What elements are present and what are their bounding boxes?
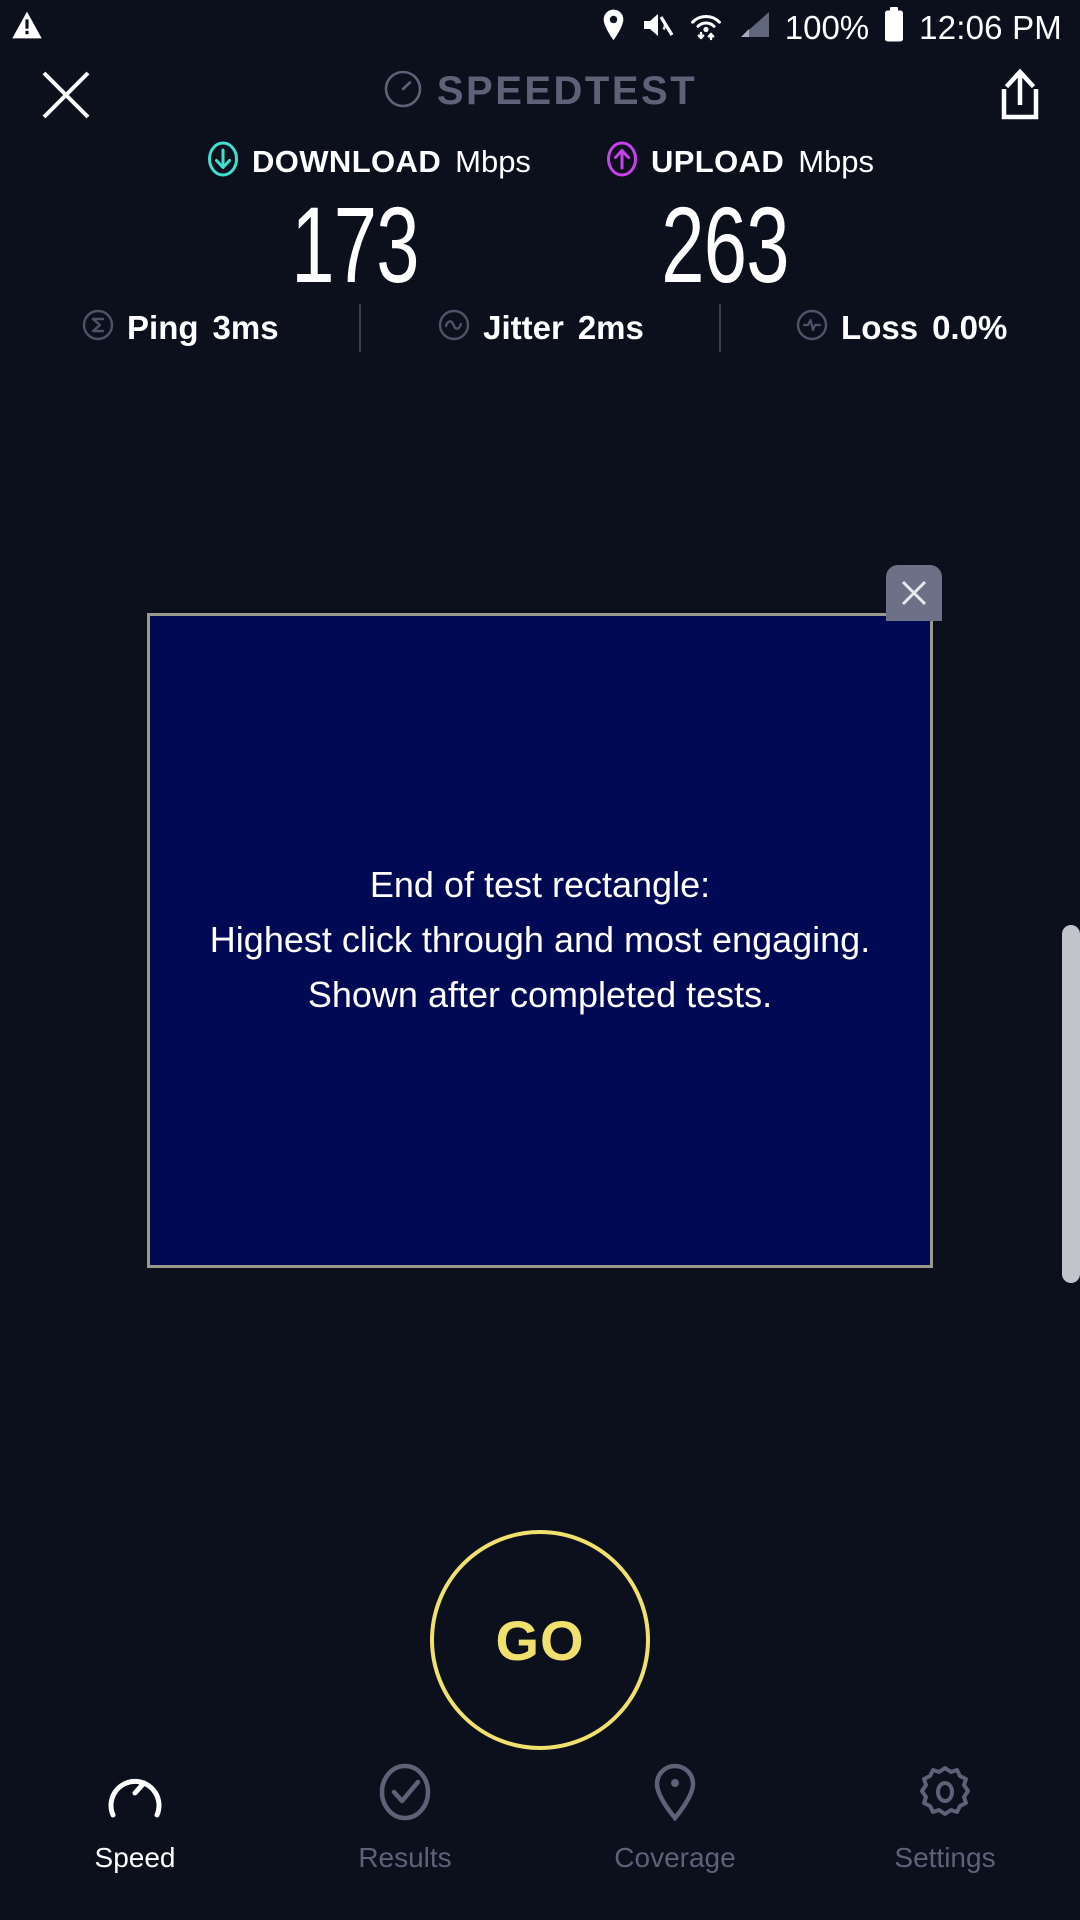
nav-item-speed[interactable]: Speed bbox=[0, 1763, 270, 1874]
battery-percent-label: 100% bbox=[785, 9, 869, 47]
nav-item-results[interactable]: Results bbox=[270, 1763, 540, 1874]
status-bar-right: 100% 12:06 PM bbox=[600, 7, 1080, 48]
nav-label-speed: Speed bbox=[95, 1842, 176, 1874]
download-label-group: DOWNLOAD Mbps bbox=[206, 140, 531, 183]
ad-banner[interactable]: End of test rectangle: Highest click thr… bbox=[147, 613, 933, 1268]
app-header: SPEEDTEST bbox=[0, 55, 1080, 135]
loss-value: 0.0% bbox=[932, 309, 1007, 347]
download-arrow-icon bbox=[206, 140, 240, 183]
metric-ping: Ping 3ms bbox=[0, 307, 359, 348]
go-button[interactable]: GO bbox=[430, 1530, 650, 1750]
download-value: 173 bbox=[225, 191, 484, 299]
upload-label: UPLOAD bbox=[651, 144, 784, 180]
metrics-row: Ping 3ms Jitter 2ms Loss 0.0% bbox=[0, 300, 1080, 355]
mute-icon bbox=[641, 10, 675, 45]
share-button[interactable] bbox=[994, 67, 1046, 123]
wifi-icon bbox=[689, 8, 723, 47]
download-label: DOWNLOAD bbox=[252, 144, 441, 180]
location-pin-icon bbox=[645, 1763, 705, 1826]
upload-unit: Mbps bbox=[798, 144, 874, 180]
ping-value: 3ms bbox=[213, 309, 279, 347]
jitter-icon bbox=[436, 307, 472, 348]
status-bar-left bbox=[0, 8, 44, 47]
upload-value: 263 bbox=[595, 191, 854, 299]
nav-label-settings: Settings bbox=[894, 1842, 995, 1874]
nav-item-coverage[interactable]: Coverage bbox=[540, 1763, 810, 1874]
check-circle-icon bbox=[375, 1763, 435, 1826]
ping-label: Ping bbox=[127, 309, 199, 347]
loss-label: Loss bbox=[841, 309, 918, 347]
speedometer-icon bbox=[383, 69, 423, 114]
upload-label-group: UPLOAD Mbps bbox=[605, 140, 874, 183]
results-summary: DOWNLOAD Mbps UPLOAD Mbps 173 263 bbox=[0, 140, 1080, 299]
battery-icon bbox=[883, 7, 905, 48]
clock-label: 12:06 PM bbox=[919, 9, 1062, 47]
loss-icon bbox=[794, 307, 830, 348]
advertisement: End of test rectangle: Highest click thr… bbox=[147, 613, 933, 1268]
jitter-label: Jitter bbox=[483, 309, 564, 347]
ad-close-button[interactable] bbox=[886, 565, 942, 621]
warning-triangle-icon bbox=[10, 8, 44, 47]
app-title-label: SPEEDTEST bbox=[437, 69, 697, 114]
bottom-navigation: Speed Results Coverage bbox=[0, 1755, 1080, 1920]
go-button-label: GO bbox=[495, 1608, 584, 1673]
nav-label-results: Results bbox=[358, 1842, 451, 1874]
location-pin-icon bbox=[600, 9, 627, 46]
metric-loss: Loss 0.0% bbox=[721, 307, 1080, 348]
gear-icon bbox=[915, 1763, 975, 1826]
upload-arrow-icon bbox=[605, 140, 639, 183]
results-labels-row: DOWNLOAD Mbps UPLOAD Mbps bbox=[0, 140, 1080, 183]
nav-item-settings[interactable]: Settings bbox=[810, 1763, 1080, 1874]
ping-icon bbox=[80, 307, 116, 348]
page-scrollbar[interactable] bbox=[1062, 925, 1080, 1283]
jitter-value: 2ms bbox=[578, 309, 644, 347]
signal-bars-icon bbox=[737, 10, 771, 45]
speedtest-app: 100% 12:06 PM SPEEDTEST bbox=[0, 0, 1080, 1920]
metric-jitter: Jitter 2ms bbox=[361, 307, 720, 348]
page-title: SPEEDTEST bbox=[0, 69, 1080, 114]
download-unit: Mbps bbox=[455, 144, 531, 180]
nav-label-coverage: Coverage bbox=[614, 1842, 735, 1874]
speedometer-icon bbox=[105, 1763, 165, 1826]
results-values-row: 173 263 bbox=[0, 191, 1080, 299]
status-bar: 100% 12:06 PM bbox=[0, 0, 1080, 55]
ad-text: End of test rectangle: Highest click thr… bbox=[210, 858, 870, 1022]
